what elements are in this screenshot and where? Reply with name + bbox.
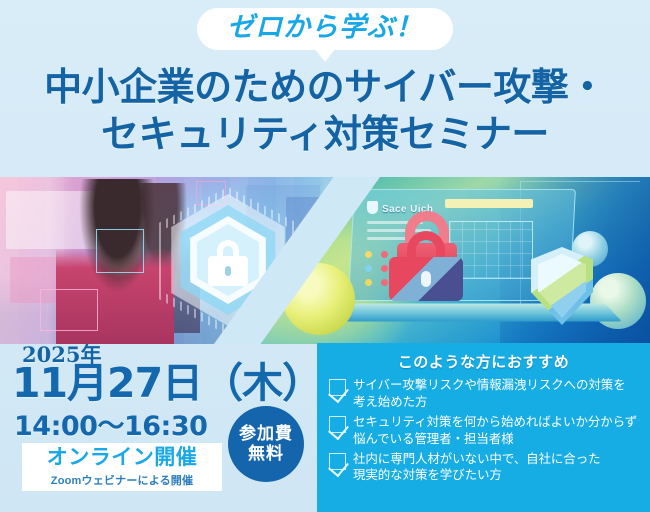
screen-progress-bar (445, 199, 533, 208)
ribbon-wrap: ゼロから学ぶ！ (0, 8, 650, 50)
check-icon (329, 416, 346, 433)
venue-box: オンライン開催 Zoomウェビナーによる開催 (22, 443, 222, 491)
recommend-item-line: サイバー攻撃リスクや情報漏洩リスクへの対策を (353, 377, 626, 394)
catch-bubble: ゼロから学ぶ！ (197, 8, 453, 50)
photo-band: Sace Uich (0, 177, 650, 344)
fee-badge: 参加費 無料 (228, 406, 304, 482)
recommend-item-line: 社内に専門人材がいない中で、自社に合った (353, 451, 601, 468)
status-dot (365, 251, 372, 258)
recommend-item-line: セキュリティ対策を何から始めればよいか分からず (353, 414, 637, 431)
recommend-item-text: サイバー攻撃リスクや情報漏洩リスクへの対策を 考え始めた方 (353, 377, 626, 411)
padlock-icon (389, 211, 475, 295)
page-title-line-2: セキュリティ対策セミナー (0, 111, 650, 158)
recommend-item-text: セキュリティ対策を何から始めればよいか分からず 悩んでいる管理者・担当者様 (353, 414, 637, 448)
status-dot (381, 279, 388, 286)
recommend-panel: このような方におすすめ サイバー攻撃リスクや情報漏洩リスクへの対策を 考え始めた… (317, 343, 650, 512)
list-item: セキュリティ対策を何から始めればよいか分からず 悩んでいる管理者・担当者様 (327, 414, 640, 448)
neon-frame (40, 289, 98, 331)
status-dot (381, 265, 388, 272)
recommend-item-line: 考え始めた方 (353, 394, 626, 411)
list-item: 社内に専門人材がいない中で、自社に合った 現実的な対策を学びたい方 (327, 451, 640, 485)
recommend-item-line: 現実的な対策を学びたい方 (353, 467, 601, 484)
status-dot (381, 251, 388, 258)
catch-bubble-label: ゼロから学ぶ！ (227, 13, 423, 43)
check-icon (329, 379, 346, 396)
list-item: サイバー攻撃リスクや情報漏洩リスクへの対策を 考え始めた方 (327, 377, 640, 411)
event-date: 11月27日（木） (12, 362, 322, 405)
status-dot (365, 279, 372, 286)
page-title: 中小企業のためのサイバー攻撃・ セキュリティ対策セミナー (0, 64, 650, 157)
check-icon (329, 453, 346, 470)
status-dot (365, 265, 372, 272)
shield-badge-icon (367, 201, 378, 214)
neon-frame (96, 229, 144, 273)
venue-sub-label: Zoomウェビナーによる開催 (51, 472, 193, 488)
venue-main-label: オンライン開催 (47, 446, 198, 470)
padlock-keyhole (421, 271, 431, 287)
fee-badge-line-2: 無料 (248, 444, 284, 464)
page-title-line-1: 中小企業のためのサイバー攻撃・ (0, 64, 650, 111)
padlock-keyhole (225, 266, 231, 276)
recommend-heading: このような方におすすめ (327, 351, 640, 372)
seminar-banner: ゼロから学ぶ！ 中小企業のためのサイバー攻撃・ セキュリティ対策セミナー (0, 0, 650, 512)
event-time: 14:00〜16:30 (14, 404, 207, 443)
fee-badge-line-1: 参加費 (239, 424, 293, 444)
recommend-item-text: 社内に専門人材がいない中で、自社に合った 現実的な対策を学びたい方 (353, 451, 601, 485)
padlock-icon (208, 240, 248, 286)
recommend-item-line: 悩んでいる管理者・担当者様 (353, 431, 637, 448)
